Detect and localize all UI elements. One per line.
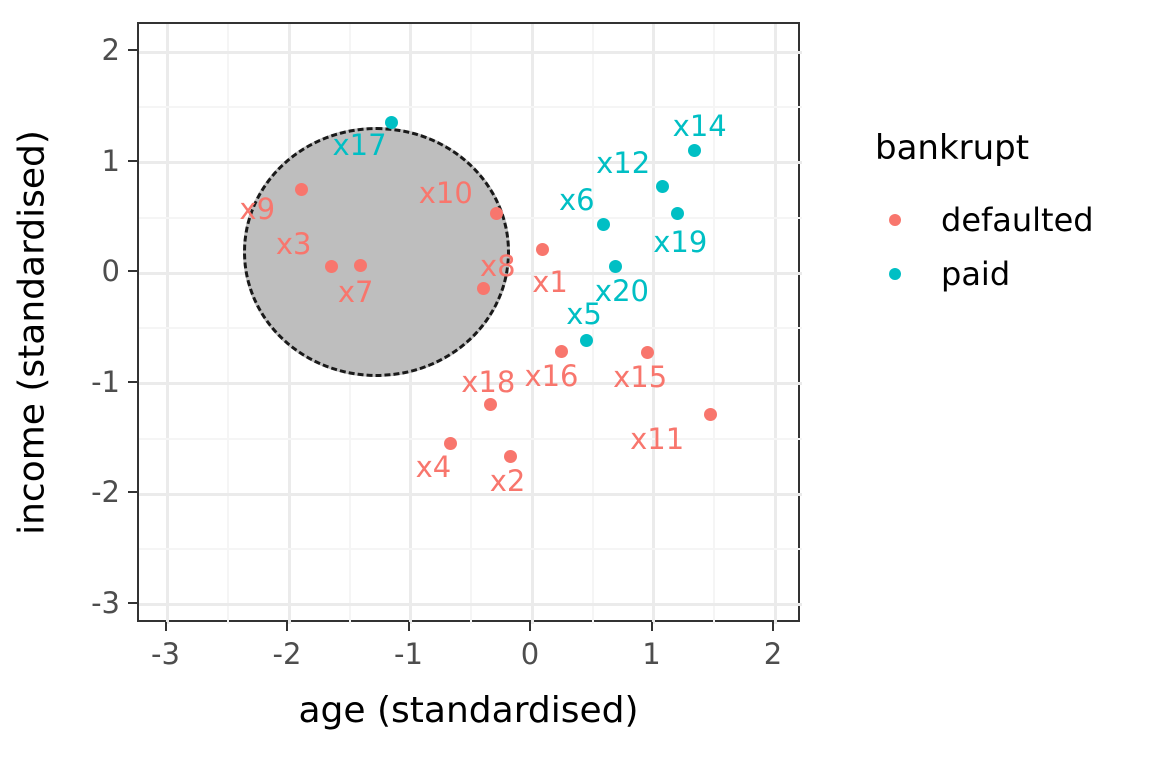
y-axis-tick bbox=[128, 270, 137, 272]
grid-line-horizontal-minor bbox=[139, 106, 802, 108]
data-point[interactable] bbox=[504, 450, 517, 463]
data-point[interactable] bbox=[477, 282, 490, 295]
x-axis-tick-label: -1 bbox=[369, 640, 449, 669]
x-axis-tick bbox=[408, 622, 410, 631]
y-axis-tick bbox=[128, 160, 137, 162]
legend-point-icon bbox=[889, 214, 901, 226]
data-point-label: x4 bbox=[416, 453, 452, 482]
x-axis-tick-label: 1 bbox=[612, 640, 692, 669]
data-point[interactable] bbox=[536, 243, 549, 256]
data-point[interactable] bbox=[580, 334, 593, 347]
data-point-label: x11 bbox=[630, 425, 684, 454]
grid-line-horizontal-major bbox=[139, 603, 802, 606]
data-point[interactable] bbox=[295, 183, 308, 196]
y-axis-title: income (standardised) bbox=[12, 33, 53, 633]
grid-line-horizontal-major bbox=[139, 493, 802, 496]
data-point-label: x18 bbox=[461, 368, 515, 397]
x-axis-tick bbox=[772, 622, 774, 631]
legend-key-swatch bbox=[875, 200, 915, 240]
x-axis-tick-label: 2 bbox=[733, 640, 813, 669]
legend-title: bankrupt bbox=[875, 128, 1140, 168]
data-point-label: x14 bbox=[673, 112, 727, 141]
legend-item-label: defaulted bbox=[941, 201, 1094, 239]
y-axis-tick bbox=[128, 491, 137, 493]
grid-line-vertical-major bbox=[652, 24, 655, 624]
data-point-label: x3 bbox=[276, 230, 312, 259]
data-point-label: x16 bbox=[524, 362, 578, 391]
legend: bankrupt defaultedpaid bbox=[875, 128, 1140, 304]
grid-line-vertical-major bbox=[531, 24, 534, 624]
data-point-label: x1 bbox=[532, 268, 568, 297]
grid-line-vertical-major bbox=[774, 24, 777, 624]
data-point-label: x15 bbox=[613, 363, 667, 392]
data-point-label: x19 bbox=[653, 228, 707, 257]
x-axis-tick bbox=[651, 622, 653, 631]
data-point-label: x9 bbox=[239, 195, 275, 224]
grid-line-vertical-minor bbox=[227, 24, 229, 624]
x-axis-title: age (standardised) bbox=[0, 690, 937, 731]
grid-line-horizontal-minor bbox=[139, 438, 802, 440]
data-point-label: x10 bbox=[419, 179, 473, 208]
data-point-label: x17 bbox=[332, 131, 386, 160]
y-axis-tick bbox=[128, 602, 137, 604]
data-point[interactable] bbox=[641, 346, 654, 359]
data-point-label: x2 bbox=[490, 467, 526, 496]
data-point-label: x7 bbox=[338, 278, 374, 307]
grid-line-horizontal-major bbox=[139, 51, 802, 54]
x-axis-tick-label: 0 bbox=[490, 640, 570, 669]
plot-panel: x9x3x7x10x8x1x16x15x11x18x4x2x17x6x20x5x… bbox=[137, 22, 800, 622]
data-point[interactable] bbox=[354, 259, 367, 272]
data-point[interactable] bbox=[555, 345, 568, 358]
data-point[interactable] bbox=[484, 398, 497, 411]
data-point[interactable] bbox=[688, 144, 701, 157]
data-point[interactable] bbox=[490, 207, 503, 220]
legend-key-swatch bbox=[875, 254, 915, 294]
legend-point-icon bbox=[889, 268, 901, 280]
legend-items: defaultedpaid bbox=[875, 196, 1140, 298]
legend-item[interactable]: paid bbox=[875, 250, 1140, 298]
data-point[interactable] bbox=[325, 260, 338, 273]
grid-line-horizontal-minor bbox=[139, 548, 802, 550]
x-axis-tick-label: -2 bbox=[247, 640, 327, 669]
data-point[interactable] bbox=[656, 180, 669, 193]
legend-item[interactable]: defaulted bbox=[875, 196, 1140, 244]
y-axis-tick bbox=[128, 381, 137, 383]
data-point-label: x12 bbox=[596, 149, 650, 178]
data-point-label: x6 bbox=[559, 186, 595, 215]
legend-item-label: paid bbox=[941, 255, 1010, 293]
x-axis-tick bbox=[529, 622, 531, 631]
data-point-label: x20 bbox=[595, 277, 649, 306]
data-point-label: x5 bbox=[566, 300, 602, 329]
data-point[interactable] bbox=[444, 437, 457, 450]
x-axis-tick bbox=[286, 622, 288, 631]
grid-line-vertical-major bbox=[166, 24, 169, 624]
data-point[interactable] bbox=[597, 218, 610, 231]
y-axis-tick bbox=[128, 49, 137, 51]
x-axis-tick bbox=[165, 622, 167, 631]
data-point-label: x8 bbox=[480, 252, 516, 281]
data-point[interactable] bbox=[704, 408, 717, 421]
chart-root: x9x3x7x10x8x1x16x15x11x18x4x2x17x6x20x5x… bbox=[0, 0, 1152, 768]
x-axis-tick-label: -3 bbox=[126, 640, 206, 669]
